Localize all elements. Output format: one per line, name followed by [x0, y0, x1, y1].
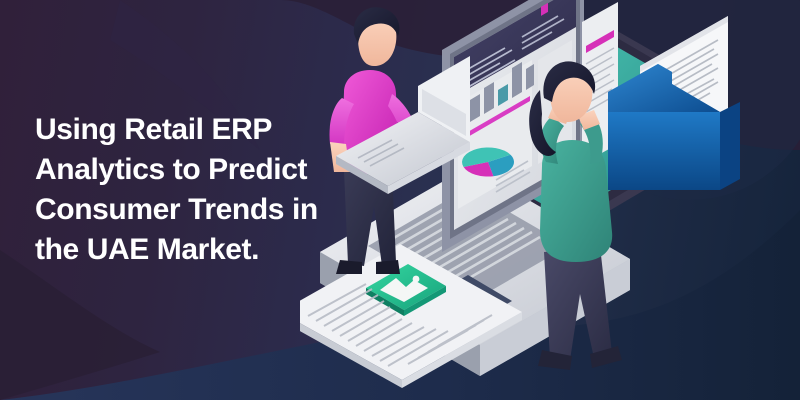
- headline-line-4: the UAE Market.: [35, 230, 415, 270]
- bar-4: [512, 62, 522, 98]
- headline-line-2: Analytics to Predict: [35, 150, 415, 190]
- headline-line-3: Consumer Trends in: [35, 190, 415, 230]
- headline-line-1: Using Retail ERP: [35, 110, 415, 150]
- woman-trousers: [544, 246, 612, 360]
- wave-bottom-left: [0, 250, 160, 400]
- page-title: Using Retail ERP Analytics to Predict Co…: [35, 110, 415, 270]
- banner-hero: Using Retail ERP Analytics to Predict Co…: [0, 0, 800, 400]
